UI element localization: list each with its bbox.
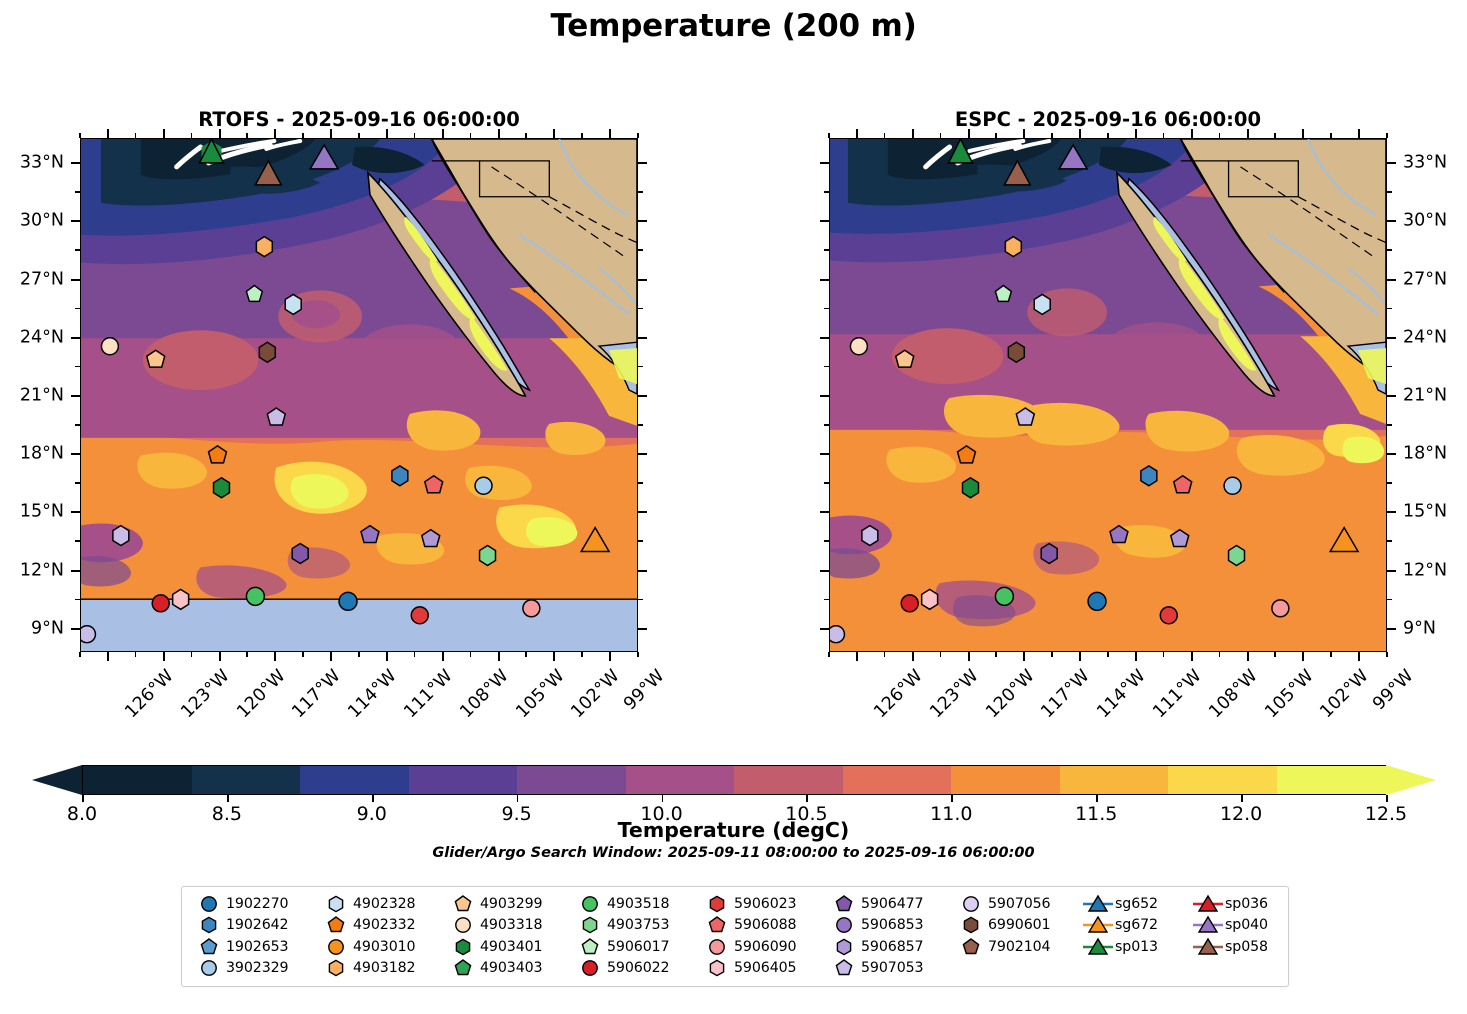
x-axis-label: 99°W (620, 666, 668, 714)
y-axis-minor-tick (75, 482, 80, 484)
legend-item[interactable]: 4903753 (573, 915, 700, 937)
x-axis-minor-tick (525, 133, 527, 138)
y-axis-minor-tick (75, 308, 80, 310)
pentagon-marker-icon (573, 936, 607, 958)
y-axis-tick (638, 453, 647, 455)
y-axis-minor-tick (75, 249, 80, 251)
y-axis-tick (820, 628, 829, 630)
y-axis-minor-tick (638, 599, 643, 601)
y-axis-minor-tick (1387, 366, 1392, 368)
panel-title-rtofs: RTOFS - 2025-09-16 06:00:00 (80, 108, 638, 131)
x-axis-tick (1191, 129, 1193, 138)
y-axis-minor-tick (638, 308, 643, 310)
hexagon-marker-icon (827, 936, 861, 958)
legend-item-label: 5906853 (861, 917, 924, 933)
colorbar-tick (951, 795, 953, 802)
y-axis-tick (638, 337, 647, 339)
x-axis-tick (856, 652, 858, 661)
hexagon-marker-icon (319, 893, 353, 915)
legend-item-label: 4903401 (480, 939, 543, 955)
x-axis-tick (219, 129, 221, 138)
legend-item[interactable]: sp013 (1081, 936, 1191, 958)
colorbar-over-arrow (1386, 765, 1436, 795)
x-axis-minor-tick (79, 133, 81, 138)
x-axis-minor-tick (581, 133, 583, 138)
legend-column: 1902270190264219026533902329 (192, 893, 319, 980)
colorbar-tick (372, 795, 374, 802)
circle-marker-icon (192, 957, 226, 979)
y-axis-minor-tick (824, 191, 829, 193)
y-axis-label: 9°N (31, 620, 64, 638)
colorbar: 8.08.59.09.510.010.511.011.512.012.5 (22, 765, 1446, 807)
legend-item[interactable]: 5906023 (700, 893, 827, 915)
y-axis-minor-tick (638, 249, 643, 251)
x-axis-tick (1247, 652, 1249, 661)
platform-legend: 1902270190264219026533902329490232849023… (181, 886, 1289, 987)
y-axis-minor-tick (638, 424, 643, 426)
x-axis-minor-tick (1051, 652, 1053, 657)
x-axis-label: 111°W (1149, 666, 1205, 722)
y-axis-tick (820, 453, 829, 455)
legend-item-label: 1902653 (226, 939, 289, 955)
legend-item[interactable]: 5907056 (954, 893, 1081, 915)
legend-item-label: 7902104 (988, 939, 1051, 955)
legend-item-label: 5906477 (861, 896, 924, 912)
y-axis-label: 33°N (20, 154, 64, 172)
legend-item[interactable]: 5906477 (827, 893, 954, 915)
legend-item-label: 3902329 (226, 960, 289, 976)
circle-marker-icon (573, 893, 607, 915)
y-axis-label: 30°N (20, 213, 64, 231)
x-axis-minor-tick (1219, 652, 1221, 657)
y-axis-minor-tick (824, 540, 829, 542)
x-axis-minor-tick (940, 133, 942, 138)
legend-column: 4903518490375359060175906022 (573, 893, 700, 980)
triangle-line-marker-icon (1081, 893, 1115, 915)
x-axis-minor-tick (940, 652, 942, 657)
legend-column: 590705669906017902104 (954, 893, 1081, 980)
x-axis-label: 120°W (233, 666, 289, 722)
y-axis-tick (820, 570, 829, 572)
legend-column: 4903299490331849034014903403 (446, 893, 573, 980)
circle-marker-icon (700, 936, 734, 958)
legend-item[interactable]: 5906405 (700, 958, 827, 980)
legend-item[interactable]: 4903299 (446, 893, 573, 915)
x-axis-label: 105°W (1261, 666, 1317, 722)
x-axis-label: 114°W (1094, 666, 1150, 722)
x-axis-minor-tick (1107, 133, 1109, 138)
x-axis-minor-tick (637, 133, 639, 138)
legend-item-label: 4903299 (480, 896, 543, 912)
colorbar-segment (1060, 766, 1172, 794)
pentagon-marker-icon (954, 936, 988, 958)
y-axis-tick (1387, 162, 1396, 164)
circle-marker-icon (319, 936, 353, 958)
y-axis-tick (820, 395, 829, 397)
y-axis-tick (71, 162, 80, 164)
x-axis-tick (163, 129, 165, 138)
x-axis-label: 123°W (926, 666, 982, 722)
pentagon-marker-icon (827, 957, 861, 979)
legend-item[interactable]: sg672 (1081, 915, 1191, 937)
y-axis-label: 12°N (1403, 562, 1447, 580)
observation-markers-espc[interactable] (830, 139, 1386, 651)
y-axis-tick (71, 453, 80, 455)
legend-item[interactable]: 5906853 (827, 915, 954, 937)
x-axis-tick (1302, 652, 1304, 661)
panel-title-espc: ESPC - 2025-09-16 06:00:00 (829, 108, 1387, 131)
x-axis-minor-tick (995, 652, 997, 657)
legend-item[interactable]: 5906022 (573, 958, 700, 980)
x-axis-tick (498, 129, 500, 138)
x-axis-tick (219, 652, 221, 661)
y-axis-minor-tick (638, 540, 643, 542)
legend-item-label: 1902270 (226, 896, 289, 912)
x-axis-minor-tick (414, 652, 416, 657)
y-axis-tick (638, 511, 647, 513)
x-axis-label: 114°W (345, 666, 401, 722)
pentagon-marker-icon (319, 914, 353, 936)
figure-suptitle: Temperature (200 m) (0, 8, 1467, 44)
legend-item-label: sp013 (1115, 939, 1158, 955)
map-axes-rtofs[interactable] (80, 138, 638, 652)
legend-item[interactable]: sp036 (1191, 893, 1301, 915)
colorbar-tick (1386, 795, 1388, 802)
x-axis-label: 126°W (121, 666, 177, 722)
legend-column: sp036 sp040 sp058 (1191, 893, 1301, 980)
x-axis-minor-tick (246, 652, 248, 657)
legend-item-label: 4902332 (353, 917, 416, 933)
y-axis-tick (71, 337, 80, 339)
colorbar-tick (1241, 795, 1243, 802)
map-panel-rtofs: RTOFS - 2025-09-16 06:00:00 (80, 138, 638, 652)
search-window-note: Glider/Argo Search Window: 2025-09-11 08… (0, 845, 1467, 861)
triangle-line-marker-icon (1081, 914, 1115, 936)
triangle-line-marker-icon (1191, 936, 1225, 958)
legend-item[interactable]: sp040 (1191, 915, 1301, 937)
y-axis-tick (820, 279, 829, 281)
y-axis-tick (638, 628, 647, 630)
x-axis-label: 102°W (1317, 666, 1373, 722)
legend-item[interactable]: 5906017 (573, 936, 700, 958)
x-axis-tick (1079, 652, 1081, 661)
legend-item-label: 5906405 (734, 960, 797, 976)
x-axis-tick (553, 129, 555, 138)
x-axis-minor-tick (637, 652, 639, 657)
x-axis-tick (107, 652, 109, 661)
x-axis-tick (1135, 129, 1137, 138)
x-axis-tick (274, 652, 276, 661)
x-axis-minor-tick (1386, 652, 1388, 657)
legend-item[interactable]: 1902270 (192, 893, 319, 915)
colorbar-tick (662, 795, 664, 802)
x-axis-minor-tick (1330, 652, 1332, 657)
colorbar-segment (1277, 766, 1389, 794)
x-axis-label: 108°W (456, 666, 512, 722)
x-axis-minor-tick (828, 133, 830, 138)
x-axis-tick (386, 129, 388, 138)
legend-item[interactable]: sp058 (1191, 936, 1301, 958)
map-axes-espc[interactable] (829, 138, 1387, 652)
y-axis-tick (820, 162, 829, 164)
x-axis-minor-tick (995, 133, 997, 138)
legend-item[interactable]: 4903518 (573, 893, 700, 915)
legend-item[interactable]: 1902642 (192, 915, 319, 937)
y-axis-label: 9°N (1403, 620, 1436, 638)
legend-item[interactable]: sg652 (1081, 893, 1191, 915)
legend-item-label: 6990601 (988, 917, 1051, 933)
x-axis-tick (912, 652, 914, 661)
y-axis-tick (820, 337, 829, 339)
y-axis-label: 27°N (1403, 271, 1447, 289)
x-axis-label: 117°W (289, 666, 345, 722)
y-axis-label: 18°N (20, 445, 64, 463)
y-axis-minor-tick (75, 599, 80, 601)
y-axis-minor-tick (75, 366, 80, 368)
y-axis-label: 33°N (1403, 154, 1447, 172)
x-axis-tick (330, 129, 332, 138)
x-axis-minor-tick (302, 652, 304, 657)
y-axis-tick (1387, 279, 1396, 281)
x-axis-minor-tick (302, 133, 304, 138)
y-axis-tick (71, 570, 80, 572)
x-axis-label: 120°W (982, 666, 1038, 722)
circle-marker-icon (446, 914, 480, 936)
x-axis-label: 108°W (1205, 666, 1261, 722)
y-axis-minor-tick (638, 191, 643, 193)
legend-item[interactable]: 4903318 (446, 915, 573, 937)
legend-item-label: 5906088 (734, 917, 797, 933)
y-axis-label: 24°N (20, 329, 64, 347)
legend-item-label: 5906023 (734, 896, 797, 912)
y-axis-label: 15°N (20, 504, 64, 522)
x-axis-minor-tick (79, 652, 81, 657)
y-axis-tick (1387, 511, 1396, 513)
x-axis-minor-tick (470, 652, 472, 657)
y-axis-minor-tick (638, 366, 643, 368)
legend-item[interactable]: 4902332 (319, 915, 446, 937)
legend-item-label: sg652 (1115, 896, 1158, 912)
x-axis-minor-tick (1051, 133, 1053, 138)
x-axis-minor-tick (525, 652, 527, 657)
legend-item-label: sp058 (1225, 939, 1268, 955)
legend-item-label: 5906090 (734, 939, 797, 955)
colorbar-tick (82, 795, 84, 802)
x-axis-minor-tick (1163, 652, 1165, 657)
x-axis-tick (609, 129, 611, 138)
hexagon-marker-icon (319, 957, 353, 979)
x-axis-label: 117°W (1038, 666, 1094, 722)
hexagon-marker-icon (700, 893, 734, 915)
legend-column: 5906023590608859060905906405 (700, 893, 827, 980)
triangle-line-marker-icon (1191, 914, 1225, 936)
colorbar-tick (1096, 795, 1098, 802)
legend-item[interactable]: 4903010 (319, 936, 446, 958)
y-axis-tick (820, 511, 829, 513)
legend-item[interactable]: 4903403 (446, 958, 573, 980)
colorbar-segment (192, 766, 304, 794)
legend-item[interactable]: 4903182 (319, 958, 446, 980)
legend-column: 5906477590685359068575907053 (827, 893, 954, 980)
y-axis-label: 24°N (1403, 329, 1447, 347)
y-axis-minor-tick (75, 540, 80, 542)
y-axis-label: 12°N (20, 562, 64, 580)
y-axis-tick (1387, 570, 1396, 572)
legend-item-label: 4903318 (480, 917, 543, 933)
colorbar-under-arrow (32, 765, 82, 795)
y-axis-minor-tick (1387, 599, 1392, 601)
circle-marker-icon (192, 893, 226, 915)
y-axis-minor-tick (638, 482, 643, 484)
x-axis-tick (856, 129, 858, 138)
legend-column: sg652 sg672 sp013 (1081, 893, 1191, 980)
colorbar-segment (83, 766, 195, 794)
x-axis-minor-tick (884, 133, 886, 138)
legend-item-label: sp040 (1225, 917, 1268, 933)
legend-item-label: 4902328 (353, 896, 416, 912)
legend-item-label: 5906017 (607, 939, 670, 955)
x-axis-label: 111°W (400, 666, 456, 722)
colorbar-tick (517, 795, 519, 802)
y-axis-minor-tick (824, 482, 829, 484)
x-axis-minor-tick (135, 652, 137, 657)
x-axis-minor-tick (828, 652, 830, 657)
x-axis-tick (1191, 652, 1193, 661)
pentagon-marker-icon (192, 936, 226, 958)
colorbar-segment (1168, 766, 1280, 794)
observation-markers-rtofs[interactable] (81, 139, 637, 651)
y-axis-tick (71, 395, 80, 397)
x-axis-tick (912, 129, 914, 138)
colorbar-tick (227, 795, 229, 802)
y-axis-label: 18°N (1403, 445, 1447, 463)
x-axis-tick (1079, 129, 1081, 138)
y-axis-tick (71, 511, 80, 513)
y-axis-tick (71, 628, 80, 630)
y-axis-tick (638, 570, 647, 572)
legend-item-label: 1902642 (226, 917, 289, 933)
pentagon-marker-icon (700, 914, 734, 936)
x-axis-minor-tick (1219, 133, 1221, 138)
x-axis-label: 123°W (177, 666, 233, 722)
x-axis-tick (386, 652, 388, 661)
y-axis-minor-tick (1387, 424, 1392, 426)
x-axis-minor-tick (246, 133, 248, 138)
colorbar-gradient (82, 765, 1386, 795)
x-axis-tick (1358, 652, 1360, 661)
x-axis-minor-tick (1330, 133, 1332, 138)
legend-item-label: 5907053 (861, 960, 924, 976)
map-panel-espc: ESPC - 2025-09-16 06:00:00 (829, 138, 1387, 652)
x-axis-minor-tick (581, 652, 583, 657)
legend-item[interactable]: 5906088 (700, 915, 827, 937)
x-axis-minor-tick (1274, 133, 1276, 138)
y-axis-tick (71, 220, 80, 222)
legend-item-label: 4903010 (353, 939, 416, 955)
x-axis-minor-tick (358, 652, 360, 657)
colorbar-tick (806, 795, 808, 802)
y-axis-tick (1387, 337, 1396, 339)
legend-item-label: 4903182 (353, 960, 416, 976)
y-axis-tick (1387, 395, 1396, 397)
colorbar-segment (300, 766, 412, 794)
x-axis-minor-tick (1163, 133, 1165, 138)
x-axis-minor-tick (1386, 133, 1388, 138)
colorbar-label: Temperature (degC) (0, 818, 1467, 842)
y-axis-minor-tick (1387, 482, 1392, 484)
colorbar-segment (843, 766, 955, 794)
x-axis-minor-tick (135, 133, 137, 138)
x-axis-tick (1135, 652, 1137, 661)
colorbar-segment (951, 766, 1063, 794)
y-axis-minor-tick (824, 249, 829, 251)
legend-item[interactable]: 5907053 (827, 958, 954, 980)
circle-marker-icon (954, 893, 988, 915)
legend-item[interactable]: 3902329 (192, 958, 319, 980)
y-axis-minor-tick (75, 424, 80, 426)
y-axis-label: 27°N (20, 271, 64, 289)
x-axis-tick (498, 652, 500, 661)
legend-item[interactable]: 4902328 (319, 893, 446, 915)
figure-root: Temperature (200 m) RTOFS - 2025-09-16 0… (0, 0, 1467, 1014)
hexagon-marker-icon (954, 914, 988, 936)
x-axis-tick (442, 652, 444, 661)
legend-item[interactable]: 7902104 (954, 936, 1081, 958)
x-axis-label: 102°W (568, 666, 624, 722)
legend-item[interactable]: 4903401 (446, 936, 573, 958)
x-axis-tick (163, 652, 165, 661)
x-axis-minor-tick (1274, 652, 1276, 657)
y-axis-label: 30°N (1403, 213, 1447, 231)
x-axis-tick (1023, 129, 1025, 138)
y-axis-label: 15°N (1403, 504, 1447, 522)
legend-item[interactable]: 5906090 (700, 936, 827, 958)
x-axis-label: 105°W (512, 666, 568, 722)
circle-marker-icon (827, 914, 861, 936)
x-axis-tick (330, 652, 332, 661)
hexagon-marker-icon (446, 936, 480, 958)
x-axis-label: 99°W (1369, 666, 1417, 714)
y-axis-tick (1387, 453, 1396, 455)
y-axis-label: 21°N (20, 387, 64, 405)
pentagon-marker-icon (827, 893, 861, 915)
legend-item[interactable]: 1902653 (192, 936, 319, 958)
hexagon-marker-icon (700, 957, 734, 979)
pentagon-marker-icon (446, 893, 480, 915)
x-axis-minor-tick (470, 133, 472, 138)
colorbar-segment (409, 766, 521, 794)
hexagon-marker-icon (573, 914, 607, 936)
x-axis-tick (442, 129, 444, 138)
y-axis-tick (71, 279, 80, 281)
colorbar-segment (517, 766, 629, 794)
legend-item[interactable]: 6990601 (954, 915, 1081, 937)
x-axis-tick (553, 652, 555, 661)
legend-item-label: 4903753 (607, 917, 670, 933)
legend-item-label: 5906857 (861, 939, 924, 955)
legend-column: 4902328490233249030104903182 (319, 893, 446, 980)
y-axis-minor-tick (1387, 540, 1392, 542)
y-axis-minor-tick (1387, 308, 1392, 310)
x-axis-tick (274, 129, 276, 138)
pentagon-marker-icon (446, 957, 480, 979)
x-axis-minor-tick (1107, 652, 1109, 657)
legend-item[interactable]: 5906857 (827, 936, 954, 958)
x-axis-minor-tick (884, 652, 886, 657)
y-axis-tick (638, 279, 647, 281)
y-axis-tick (638, 395, 647, 397)
y-axis-minor-tick (824, 308, 829, 310)
